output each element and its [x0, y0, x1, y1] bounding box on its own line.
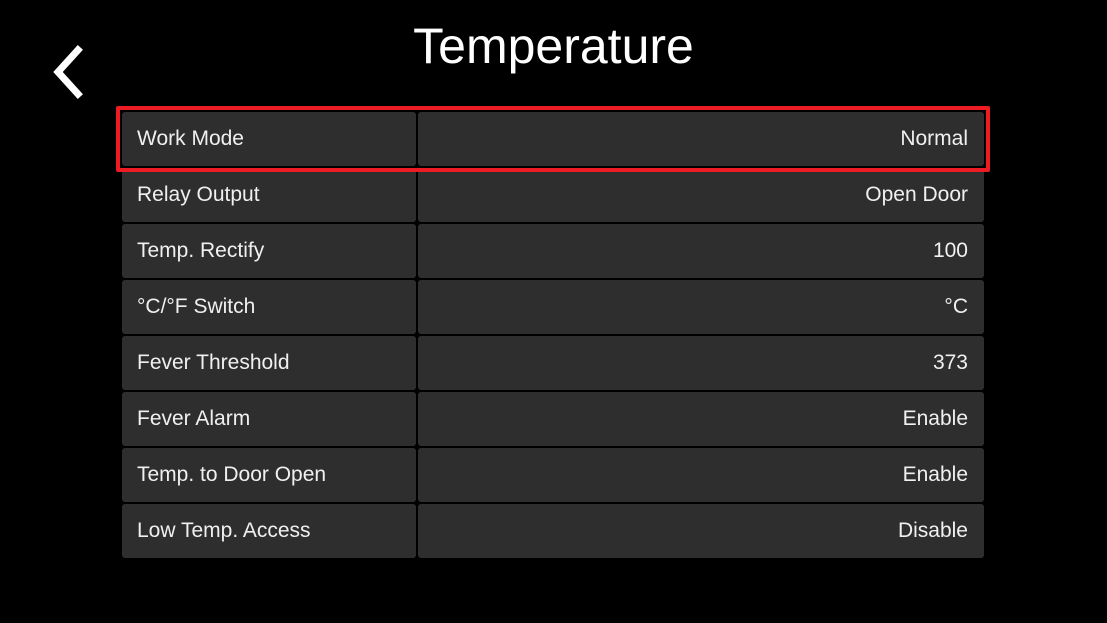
settings-row[interactable]: Fever AlarmEnable	[122, 392, 984, 448]
settings-row[interactable]: Relay OutputOpen Door	[122, 168, 984, 224]
setting-label: Temp. to Door Open	[122, 448, 416, 502]
setting-label: Fever Alarm	[122, 392, 416, 446]
setting-label: °C/°F Switch	[122, 280, 416, 334]
settings-list: Work ModeNormalRelay OutputOpen DoorTemp…	[122, 112, 984, 560]
settings-row[interactable]: Work ModeNormal	[122, 112, 984, 168]
setting-value[interactable]: Enable	[418, 392, 984, 446]
settings-row[interactable]: Temp. Rectify100	[122, 224, 984, 280]
settings-row[interactable]: Fever Threshold373	[122, 336, 984, 392]
setting-value[interactable]: 100	[418, 224, 984, 278]
setting-label: Relay Output	[122, 168, 416, 222]
setting-label: Temp. Rectify	[122, 224, 416, 278]
setting-value[interactable]: Normal	[418, 112, 984, 166]
settings-row[interactable]: °C/°F Switch°C	[122, 280, 984, 336]
setting-value[interactable]: Disable	[418, 504, 984, 558]
page-title: Temperature	[0, 12, 1107, 80]
setting-value[interactable]: Open Door	[418, 168, 984, 222]
setting-value[interactable]: Enable	[418, 448, 984, 502]
setting-value[interactable]: 373	[418, 336, 984, 390]
settings-row[interactable]: Low Temp. AccessDisable	[122, 504, 984, 560]
setting-label: Work Mode	[122, 112, 416, 166]
setting-value[interactable]: °C	[418, 280, 984, 334]
page-header: Temperature	[0, 0, 1107, 96]
setting-label: Low Temp. Access	[122, 504, 416, 558]
setting-label: Fever Threshold	[122, 336, 416, 390]
settings-row[interactable]: Temp. to Door OpenEnable	[122, 448, 984, 504]
